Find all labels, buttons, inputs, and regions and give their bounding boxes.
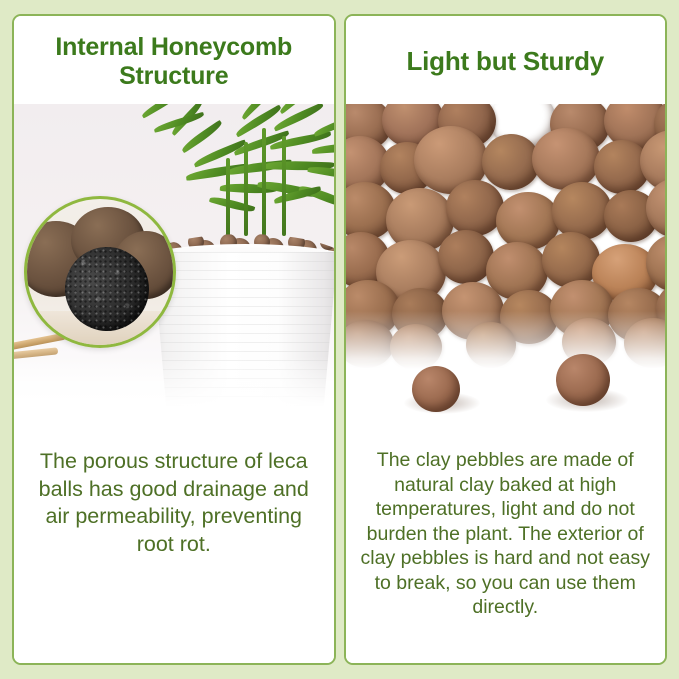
pebble-cut-open-porous-interior [65,247,149,331]
page-title-left: Internal Honeycomb Structure [26,33,322,91]
panel-header-right: Light but Sturdy [346,16,666,104]
clay-pebble-pile [346,104,666,369]
product-photo-clay-pebbles [346,104,666,426]
page-title-right: Light but Sturdy [406,47,604,77]
panel-light-but-sturdy: Light but Sturdy [344,14,668,665]
caption-right: The clay pebbles are made of natural cla… [346,426,666,663]
infographic-root: Internal Honeycomb Structure [0,0,679,679]
magnified-inset-circle [24,196,176,348]
caption-left: The porous structure of leca balls has g… [14,426,334,663]
loose-clay-pebble [412,366,460,412]
wooden-stick-icon [14,347,58,359]
panel-internal-honeycomb-structure: Internal Honeycomb Structure [12,14,336,665]
panel-header-left: Internal Honeycomb Structure [14,16,334,104]
product-photo-plant-in-pot [14,104,334,426]
loose-clay-pebble [556,354,610,406]
